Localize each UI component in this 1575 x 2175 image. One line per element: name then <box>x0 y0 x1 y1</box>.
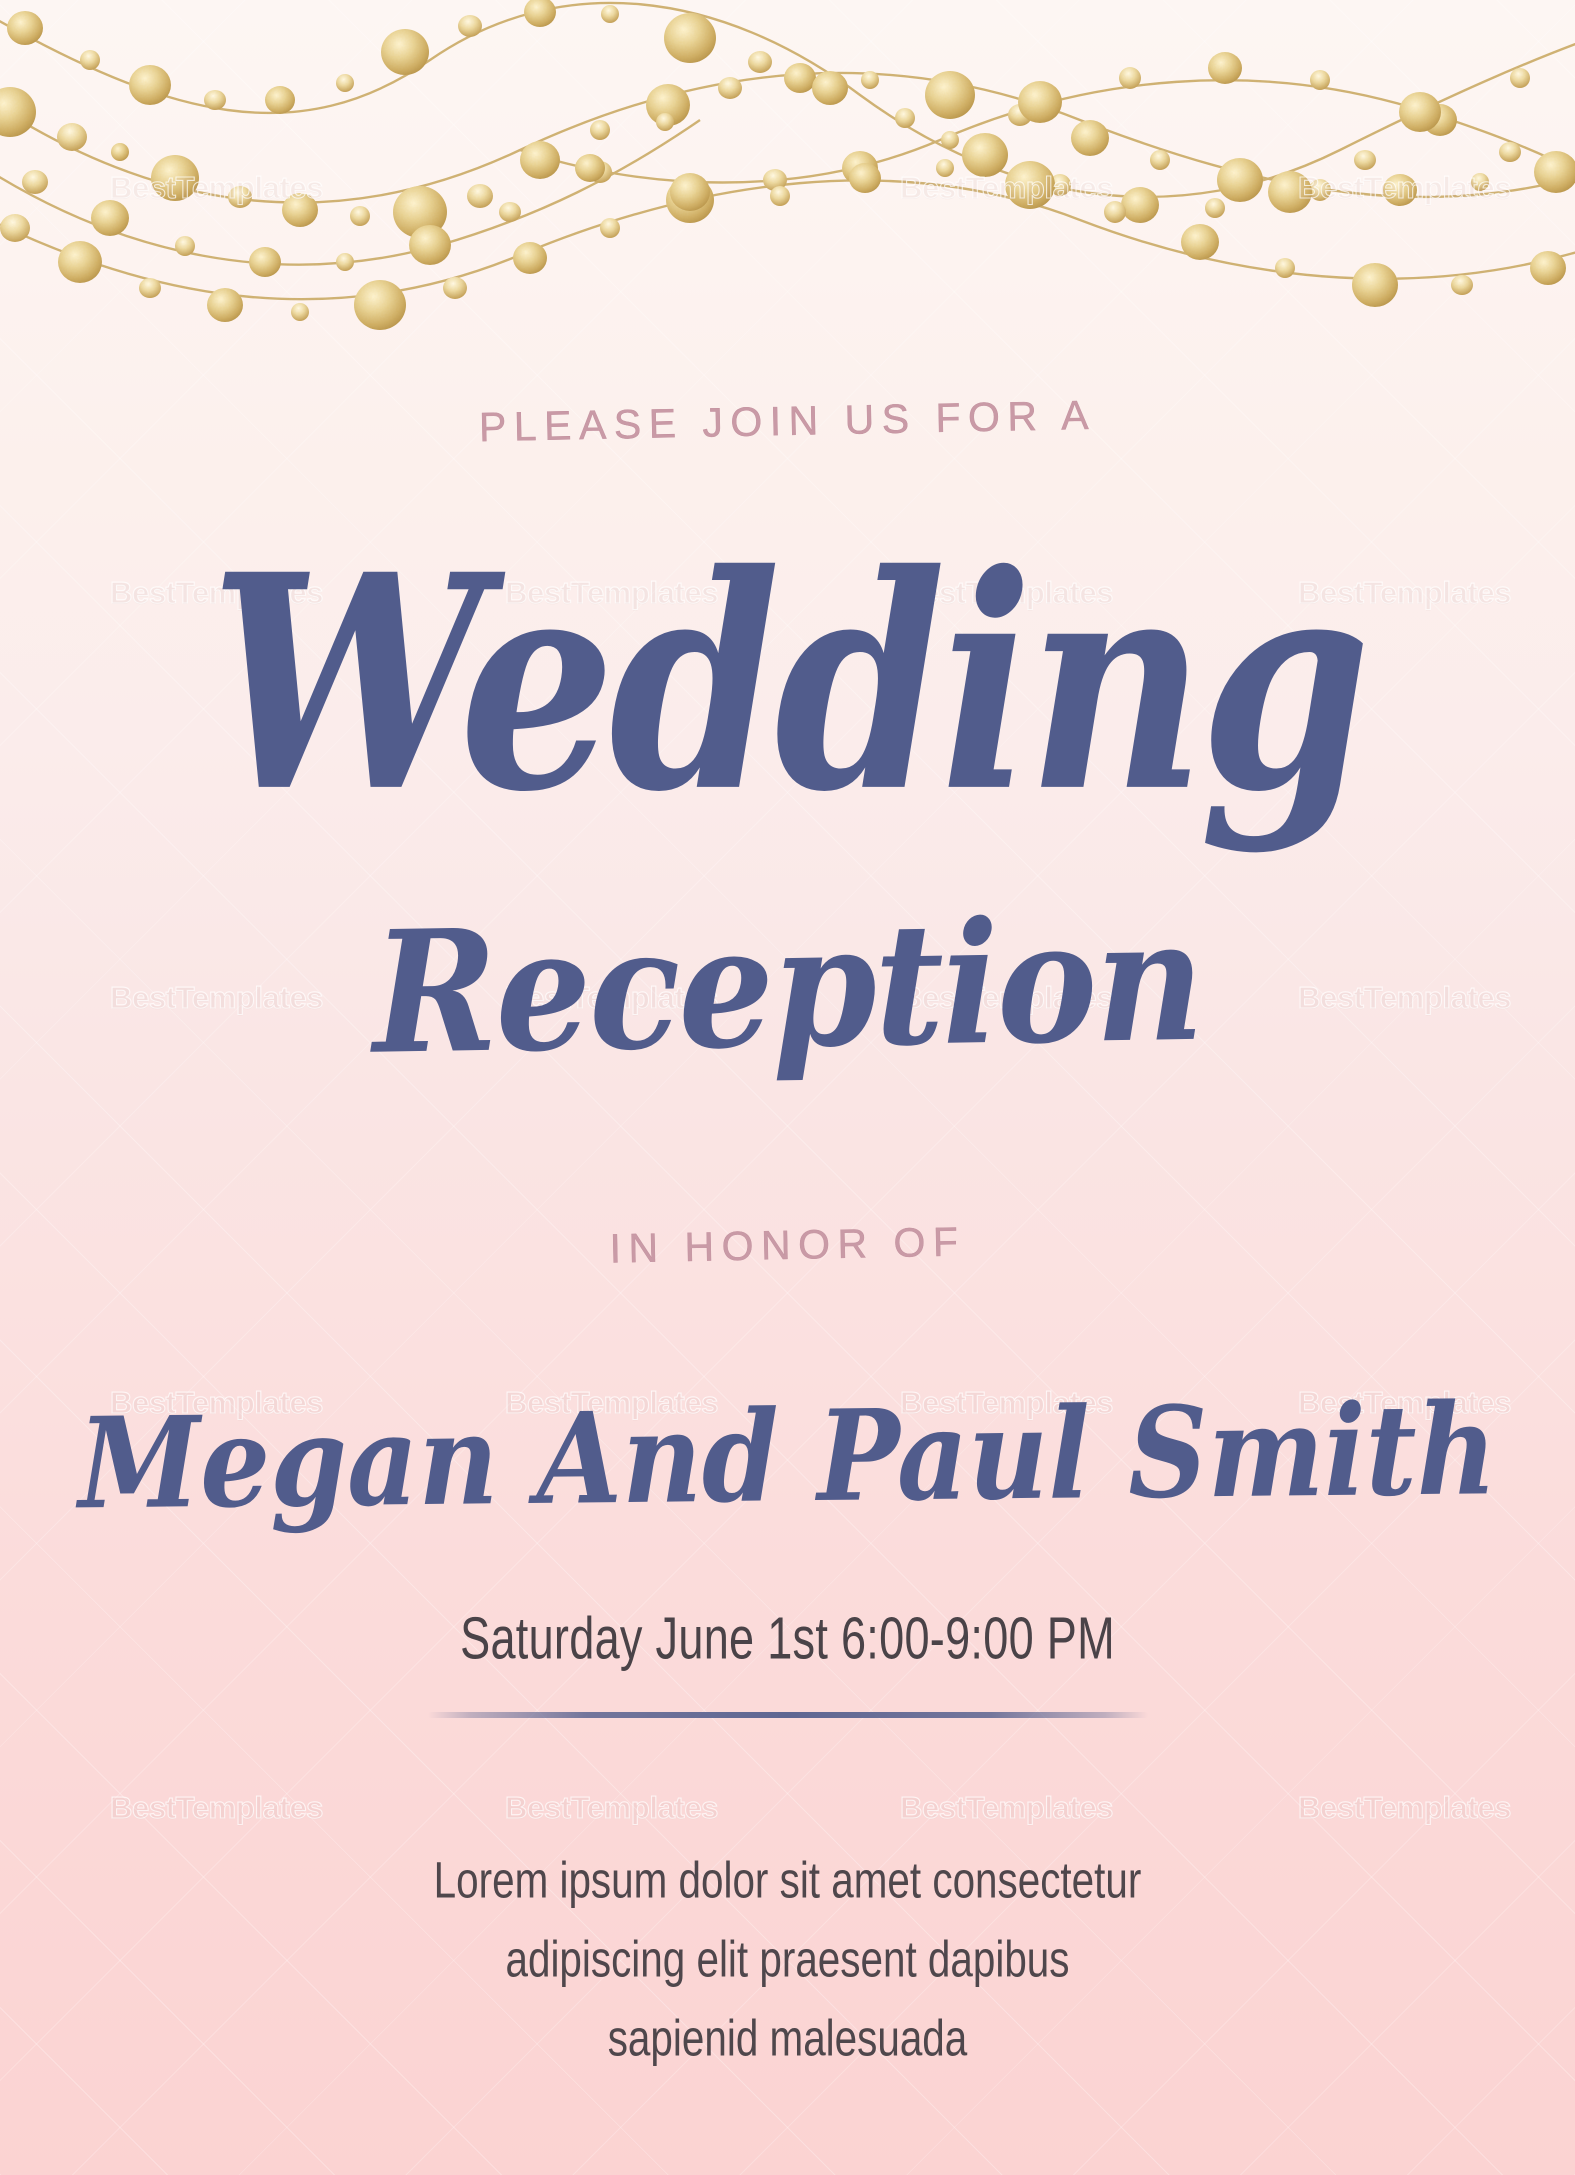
event-date-time: Saturday June 1st 6:00-9:00 PM <box>63 1605 1512 1673</box>
title-wedding: Wedding <box>16 536 1560 831</box>
invitation-content: PLEASE JOIN US FOR A Wedding Reception I… <box>0 0 1575 2175</box>
invitation-card: BestTemplates BestTemplates BestTemplate… <box>0 0 1575 2175</box>
couple-names: Megan And Paul Smith <box>0 1386 1575 1527</box>
title-reception: Reception <box>0 891 1575 1084</box>
body-paragraph: Lorem ipsum dolor sit amet consectetur a… <box>47 1842 1528 2079</box>
honor-label: IN HONOR OF <box>0 1206 1575 1285</box>
body-line-3: sapienid malesuada <box>47 2000 1528 2079</box>
body-line-2: adipiscing elit praesent dapibus <box>47 1921 1528 2000</box>
intro-line: PLEASE JOIN US FOR A <box>0 382 1575 461</box>
divider-rule <box>428 1712 1148 1718</box>
body-line-1: Lorem ipsum dolor sit amet consectetur <box>47 1842 1528 1921</box>
